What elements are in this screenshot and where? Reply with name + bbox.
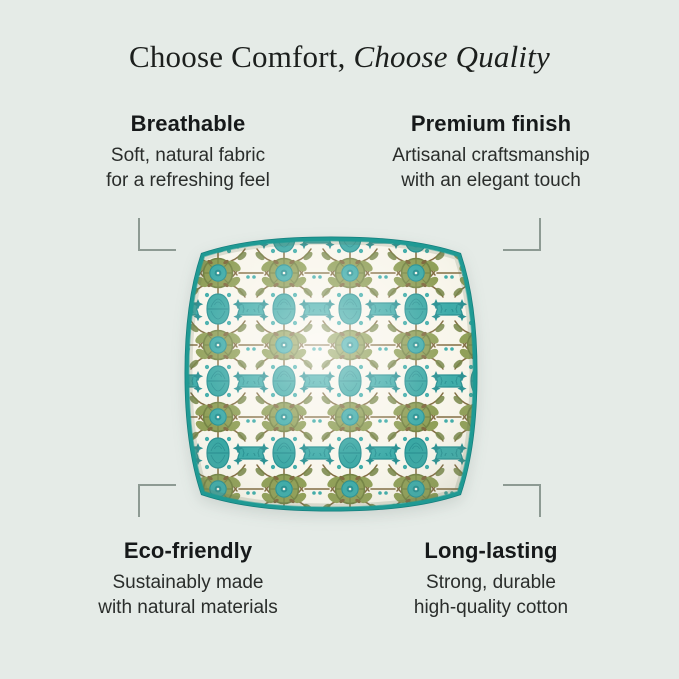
connector-bracket-bottom-right: [503, 484, 541, 517]
connector-bracket-top-left: [138, 218, 176, 251]
feature-breathable: Breathable Soft, natural fabric for a re…: [38, 110, 338, 193]
feature-breathable-line1: Soft, natural fabric: [38, 143, 338, 168]
feature-long-lasting-heading: Long-lasting: [341, 537, 641, 565]
product-image: [183, 235, 479, 515]
feature-long-lasting: Long-lasting Strong, durable high-qualit…: [341, 537, 641, 620]
feature-breathable-heading: Breathable: [38, 110, 338, 138]
feature-eco-friendly: Eco-friendly Sustainably made with natur…: [38, 537, 338, 620]
feature-long-lasting-line1: Strong, durable: [341, 570, 641, 595]
title-italic: Choose Quality: [353, 39, 550, 74]
page-title: Choose Comfort, Choose Quality: [0, 38, 679, 76]
infographic-canvas: Choose Comfort, Choose Quality Breathabl…: [0, 0, 679, 679]
feature-breathable-line2: for a refreshing feel: [38, 168, 338, 193]
connector-bracket-top-right: [503, 218, 541, 251]
feature-eco-friendly-heading: Eco-friendly: [38, 537, 338, 565]
feature-premium-finish-line1: Artisanal craftsmanship: [341, 143, 641, 168]
feature-eco-friendly-line1: Sustainably made: [38, 570, 338, 595]
feature-long-lasting-line2: high-quality cotton: [341, 595, 641, 620]
cushion-illustration: [183, 235, 479, 515]
connector-bracket-bottom-left: [138, 484, 176, 517]
feature-premium-finish: Premium finish Artisanal craftsmanship w…: [341, 110, 641, 193]
feature-premium-finish-heading: Premium finish: [341, 110, 641, 138]
cushion-fabric: [183, 235, 479, 515]
feature-eco-friendly-line2: with natural materials: [38, 595, 338, 620]
title-regular: Choose Comfort,: [129, 39, 346, 74]
feature-premium-finish-line2: with an elegant touch: [341, 168, 641, 193]
